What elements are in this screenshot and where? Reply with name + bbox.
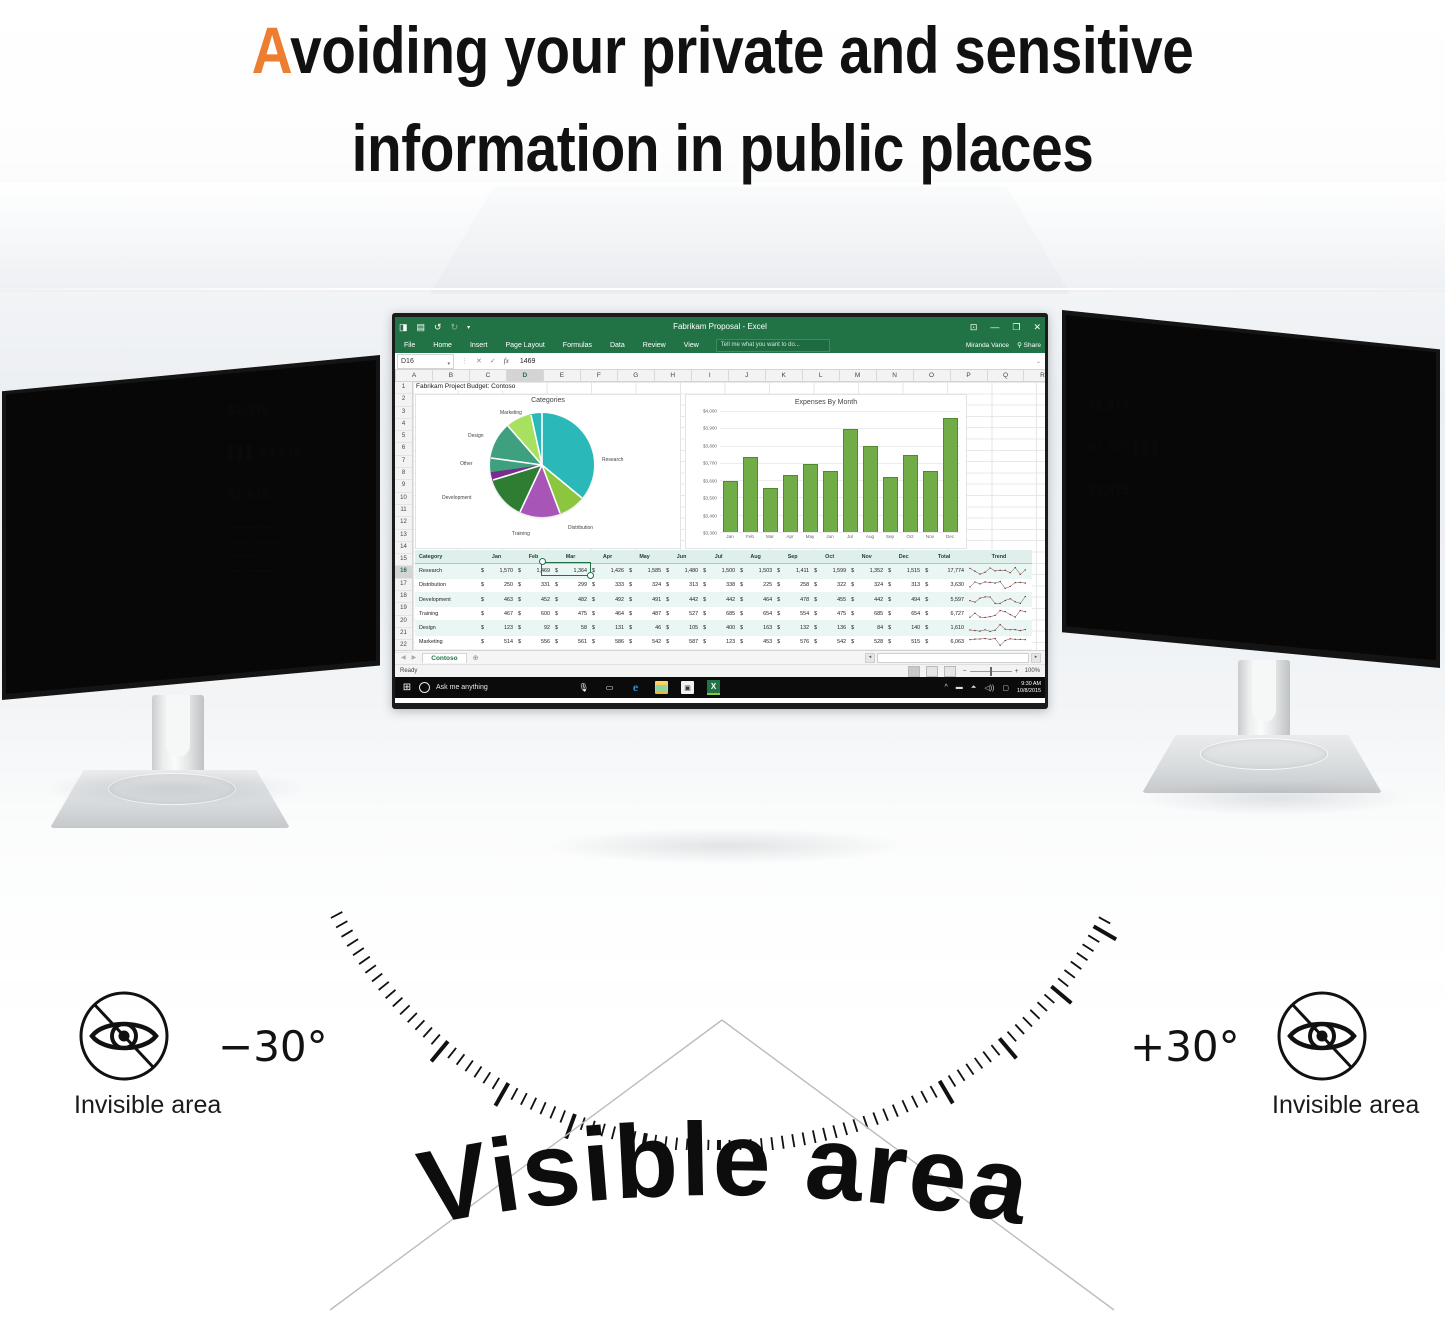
table-cell-value[interactable]: 1,585 (626, 564, 663, 578)
table-row[interactable]: Research1,5701,4691,3641,4261,5851,4801,… (415, 564, 1032, 578)
column-header-a[interactable]: A (396, 370, 433, 381)
table-cell-value[interactable]: 1,599 (811, 564, 848, 578)
clock-date: 10/8/2015 (1017, 688, 1041, 695)
taskbar-app-icons[interactable]: 🎙 ▭ e ▣ X (577, 680, 720, 695)
normal-view-icon[interactable] (908, 666, 920, 677)
bar-nov: Nov (923, 471, 938, 532)
table-cell-value[interactable]: 322 (811, 578, 848, 592)
table-cell-value[interactable]: 685 (700, 607, 737, 621)
table-cell-value[interactable]: 1,500 (700, 564, 737, 578)
protractor-tick (353, 948, 364, 955)
table-cell-value[interactable]: 654 (737, 607, 774, 621)
table-cell-value[interactable]: 600 (515, 607, 552, 621)
headline-accent-letter: A (252, 13, 290, 87)
table-cell-value[interactable]: 464 (737, 592, 774, 606)
protractor-tick (359, 957, 370, 965)
row-header-18[interactable]: 18 (395, 591, 412, 603)
table-cell-value[interactable]: 338 (700, 578, 737, 592)
table-col-nov[interactable]: Nov (848, 550, 885, 564)
table-cell-value[interactable]: 491 (626, 592, 663, 606)
table-col-apr[interactable]: Apr (589, 550, 626, 564)
row-header-11[interactable]: 11 (395, 505, 412, 517)
worksheet-grid[interactable]: Fabrikam Project Budget: Contoso Categor… (413, 382, 1045, 650)
bar-chart-ytick: $3,500 (703, 496, 717, 501)
sheet-nav-arrows[interactable]: ◀ ▶ (395, 654, 422, 661)
restore-icon[interactable]: ❐ (1012, 322, 1020, 333)
bar-chart-ytick: $4,000 (703, 409, 717, 414)
pie-chart-plot (490, 413, 594, 517)
headline-line-1-rest: voiding your private and sensitive (290, 13, 1193, 87)
table-cell-value[interactable]: 225 (737, 578, 774, 592)
bar-aug: Aug (863, 446, 878, 532)
table-cell-value[interactable]: 586 (589, 635, 626, 649)
formula-bar[interactable]: D16 ▾ ⋮ ✕ ✓ fx 1469 ⌄ (395, 353, 1045, 370)
visible-area-text: Visible area (0, 1120, 1445, 1320)
column-header-o[interactable]: O (914, 370, 951, 381)
bar-jan: Jan (723, 481, 738, 532)
table-cell-category[interactable]: Distribution (415, 578, 478, 592)
column-header-r[interactable]: R (1024, 370, 1045, 381)
table-col-trend[interactable]: Trend (966, 550, 1032, 564)
formula-input[interactable]: 1469 (516, 358, 1036, 365)
window-title: Fabrikam Proposal - Excel (395, 317, 1045, 337)
row-header-15[interactable]: 15 (395, 554, 412, 566)
table-cell-category[interactable]: Research (415, 564, 478, 578)
table-cell-value[interactable]: 1,570 (478, 564, 515, 578)
table-cell-value[interactable]: 58 (552, 621, 589, 635)
table-cell-value[interactable]: 258 (774, 578, 811, 592)
table-header-row: CategoryJanFebMarAprMayJunJulAugSepOctNo… (415, 550, 1032, 564)
bar-jul: Jul (843, 429, 858, 532)
table-cell-value[interactable]: 299 (552, 578, 589, 592)
table-row[interactable]: Marketing5145565615865425871234535765425… (415, 635, 1032, 649)
search-placeholder[interactable]: Ask me anything (436, 684, 488, 691)
desk-highlight-line (0, 288, 1445, 290)
table-cell-value[interactable]: 464 (589, 607, 626, 621)
table-cell-value[interactable]: 1,480 (663, 564, 700, 578)
table-cell-value[interactable]: 442 (700, 592, 737, 606)
account-name[interactable]: Miranda Vance (966, 342, 1009, 349)
table-cell-value[interactable]: 1,503 (737, 564, 774, 578)
table-cell-category[interactable]: Development (415, 592, 478, 606)
protractor-tick (1071, 962, 1082, 970)
table-cell-value[interactable]: 542 (811, 635, 848, 649)
table-row[interactable]: Design123925813146105400163132136841401,… (415, 621, 1032, 635)
pie-label-research: Research (602, 457, 623, 463)
bar-chart-gridline: $3,300 (720, 532, 960, 533)
enter-icon[interactable]: ✓ (490, 357, 496, 365)
tab-file[interactable]: File (395, 342, 424, 349)
protractor-tick (1099, 917, 1110, 923)
column-header-g[interactable]: G (618, 370, 655, 381)
bar-chart-xtick: Sep (884, 534, 897, 539)
table-cell-value[interactable]: 331 (515, 578, 552, 592)
right-invisible-label: Invisible area (1272, 1091, 1372, 1120)
table-cell-value[interactable]: 250 (478, 578, 515, 592)
tab-insert[interactable]: Insert (461, 342, 497, 349)
table-cell-value[interactable]: 576 (774, 635, 811, 649)
column-header-c[interactable]: C (470, 370, 507, 381)
system-tray[interactable]: ^ ▬ ⏶ ◁)) ▢ 9:30 AM 10/8/2015 (944, 681, 1041, 695)
row-header-7[interactable]: 7 (395, 456, 412, 468)
table-cell-value[interactable]: 514 (478, 635, 515, 649)
bar-chart-ytick: $3,600 (703, 478, 717, 483)
table-cell-value[interactable]: 123 (478, 621, 515, 635)
row-header-13[interactable]: 13 (395, 530, 412, 542)
file-explorer-icon[interactable] (655, 681, 668, 694)
table-cell-total[interactable]: 3,630 (922, 578, 966, 592)
pie-label-training: Training (512, 531, 530, 537)
tell-me-input[interactable]: Tell me what you want to do... (716, 339, 830, 352)
task-view-icon[interactable]: ▭ (603, 681, 616, 694)
column-header-p[interactable]: P (951, 370, 988, 381)
row-header-3[interactable]: 3 (395, 407, 412, 419)
bar-chart-ytick: $3,900 (703, 426, 717, 431)
table-cell-value[interactable]: 487 (626, 607, 663, 621)
table-cell-value[interactable]: 324 (848, 578, 885, 592)
ribbon-tab-bar[interactable]: File Home Insert Page Layout Formulas Da… (395, 337, 1045, 353)
row-header-5[interactable]: 5 (395, 431, 412, 443)
table-cell-value[interactable]: 1,515 (885, 564, 922, 578)
zoom-out-icon[interactable]: − (962, 668, 966, 675)
table-cell-value[interactable]: 442 (663, 592, 700, 606)
insert-function-icon[interactable]: fx (504, 357, 509, 365)
column-header-n[interactable]: N (877, 370, 914, 381)
table-cell-value[interactable]: 400 (700, 621, 737, 635)
table-cell-value[interactable]: 1,411 (774, 564, 811, 578)
table-cell-value[interactable]: 455 (811, 592, 848, 606)
scroll-right-icon[interactable]: ▸ (1031, 653, 1041, 663)
table-cell-trend[interactable] (966, 607, 1032, 621)
table-cell-trend[interactable] (966, 635, 1032, 649)
chevron-down-icon[interactable]: ▾ (447, 358, 450, 371)
status-bar: Ready − + 100% (395, 664, 1045, 677)
table-cell-value[interactable]: 528 (848, 635, 885, 649)
bar-mar: Mar (763, 488, 778, 532)
network-icon[interactable]: ⏶ (971, 684, 977, 692)
left-invisible-indicator: Invisible area (74, 990, 174, 1120)
table-cell-value[interactable]: 84 (848, 621, 885, 635)
table-cell-value[interactable]: 478 (774, 592, 811, 606)
minimize-icon[interactable]: — (990, 322, 999, 332)
bar-sep: Sep (883, 477, 898, 532)
table-col-aug[interactable]: Aug (737, 550, 774, 564)
previous-sheet-icon[interactable]: ◀ (401, 654, 406, 661)
table-cell-value[interactable]: 452 (515, 592, 552, 606)
table-cell-value[interactable]: 467 (478, 607, 515, 621)
table-col-may[interactable]: May (626, 550, 663, 564)
protractor-tick (365, 965, 376, 973)
edge-icon[interactable]: e (629, 681, 642, 694)
expand-formula-bar-icon[interactable]: ⌄ (1036, 358, 1045, 365)
bar-chart-ytick: $3,400 (703, 513, 717, 518)
table-cell-value[interactable]: 685 (848, 607, 885, 621)
table-cell-value[interactable]: 1,426 (589, 564, 626, 578)
status-text: Ready (395, 668, 417, 674)
table-cell-value[interactable]: 492 (589, 592, 626, 606)
window-controls[interactable]: ⊡ — ❐ ✕ (970, 317, 1041, 337)
column-header-b[interactable]: B (433, 370, 470, 381)
table-col-sep[interactable]: Sep (774, 550, 811, 564)
table-cell-value[interactable]: 556 (515, 635, 552, 649)
table-cell-value[interactable]: 527 (663, 607, 700, 621)
table-cell-value[interactable]: 542 (626, 635, 663, 649)
table-cell-value[interactable]: 313 (885, 578, 922, 592)
table-cell-value[interactable]: 515 (885, 635, 922, 649)
left-invisible-label: Invisible area (74, 1091, 174, 1120)
column-header-row[interactable]: ABCDEFGHIJKLMNOPQR (395, 370, 1045, 382)
bar-chart-ytick: $3,800 (703, 443, 717, 448)
table-cell-trend[interactable] (966, 564, 1032, 578)
table-col-total[interactable]: Total (922, 550, 966, 564)
table-cell-value[interactable]: 475 (552, 607, 589, 621)
microphone-icon[interactable]: 🎙 (577, 681, 590, 694)
formula-bar-buttons[interactable]: ⋮ ✕ ✓ fx (454, 357, 516, 365)
bar-chart-series: JanFebMarAprMayJunJulAugSepOctNovDec (720, 411, 960, 532)
right-monitor-base-ring (1200, 738, 1328, 770)
zoom-slider[interactable]: − + (962, 668, 1018, 675)
table-cell-total[interactable]: 1,610 (922, 621, 966, 635)
sheet-tab-contoso[interactable]: Contoso (422, 653, 466, 663)
table-row[interactable]: Distribution2503312993333243133382252583… (415, 578, 1032, 592)
table-cell-value[interactable]: 587 (663, 635, 700, 649)
table-cell-category[interactable]: Training (415, 607, 478, 621)
pie-label-other: Other (460, 461, 473, 467)
table-cell-trend[interactable] (966, 621, 1032, 635)
bar-jun: Jun (823, 471, 838, 532)
row-header-19[interactable]: 19 (395, 603, 412, 615)
pie-label-distribution: Distribution (568, 525, 593, 531)
row-header-22[interactable]: 22 (395, 640, 412, 652)
pie-label-marketing: Marketing (500, 410, 522, 416)
row-header-17[interactable]: 17 (395, 579, 412, 591)
table-col-jul[interactable]: Jul (700, 550, 737, 564)
tab-review[interactable]: Review (634, 342, 675, 349)
table-cell-total[interactable]: 17,774 (922, 564, 966, 578)
status-bar-right[interactable]: − + 100% (908, 666, 1045, 677)
right-invisible-indicator: Invisible area (1272, 990, 1372, 1120)
worksheet-area[interactable]: 12345678910111213141516171819202122 Fabr… (395, 382, 1045, 650)
sparkline (968, 623, 1028, 633)
table-cell-value[interactable]: 131 (589, 621, 626, 635)
row-header-column[interactable]: 12345678910111213141516171819202122 (395, 382, 413, 650)
select-all-corner[interactable] (395, 370, 396, 381)
table-cell-value[interactable]: 313 (663, 578, 700, 592)
protractor-tick (1077, 953, 1088, 960)
pie-slice-separators (490, 413, 594, 517)
close-icon[interactable]: ✕ (1033, 322, 1041, 333)
table-cell-value[interactable]: 324 (626, 578, 663, 592)
cortana-icon[interactable] (419, 682, 430, 693)
bar-chart-xtick: Feb (744, 534, 757, 539)
tab-data[interactable]: Data (601, 342, 634, 349)
table-cell-total[interactable]: 6,063 (922, 635, 966, 649)
cancel-icon[interactable]: ✕ (476, 357, 482, 365)
protractor-tick (342, 930, 353, 937)
table-cell-value[interactable]: 482 (552, 592, 589, 606)
table-cell-value[interactable]: 654 (885, 607, 922, 621)
bar-chart-xtick: Aug (864, 534, 877, 539)
show-hidden-icons-icon[interactable]: ^ (944, 684, 947, 691)
table-col-jun[interactable]: Jun (663, 550, 700, 564)
tab-home[interactable]: Home (424, 342, 461, 349)
table-cell-total[interactable]: 5,597 (922, 592, 966, 606)
table-cell-value[interactable]: 494 (885, 592, 922, 606)
page-break-view-icon[interactable] (944, 666, 956, 677)
system-clock[interactable]: 9:30 AM 10/8/2015 (1017, 681, 1041, 695)
row-header-12[interactable]: 12 (395, 517, 412, 529)
store-icon[interactable]: ▣ (681, 681, 694, 694)
row-header-14[interactable]: 14 (395, 542, 412, 554)
tab-view[interactable]: View (675, 342, 708, 349)
row-header-16[interactable]: 16 (395, 566, 412, 578)
share-button[interactable]: ⚲ Share (1017, 341, 1041, 349)
sheet-tab-bar[interactable]: ◀ ▶ Contoso ⊕ ◂ ▸ (395, 650, 1045, 664)
scroll-left-icon[interactable]: ◂ (865, 653, 875, 663)
column-header-k[interactable]: K (766, 370, 803, 381)
name-box-value: D16 (401, 358, 414, 365)
action-center-icon[interactable]: ▢ (1002, 684, 1009, 692)
column-header-d[interactable]: D (507, 370, 544, 381)
excel-icon[interactable]: X (707, 680, 720, 695)
table-cell-value[interactable]: 92 (515, 621, 552, 635)
tab-page-layout[interactable]: Page Layout (496, 342, 553, 349)
row-header-6[interactable]: 6 (395, 443, 412, 455)
bar-chart-xtick: Jan (724, 534, 737, 539)
bar-chart-xtick: Nov (924, 534, 937, 539)
pie-label-development: Development (442, 495, 471, 501)
table-col-dec[interactable]: Dec (885, 550, 922, 564)
table-cell-value[interactable]: 105 (663, 621, 700, 635)
ribbon-display-options-icon[interactable]: ⊡ (970, 322, 978, 333)
name-box[interactable]: D16 ▾ (397, 354, 454, 369)
desk-backdrop-trapezoid (430, 186, 1070, 294)
column-header-f[interactable]: F (581, 370, 618, 381)
selection-handle-bottom[interactable] (587, 572, 594, 579)
headline-line-2: information in public places (101, 100, 1344, 198)
sparkline (968, 566, 1028, 576)
tab-formulas[interactable]: Formulas (554, 342, 601, 349)
protractor-tick (1088, 935, 1099, 942)
windows-taskbar[interactable]: ⊞ Ask me anything 🎙 ▭ e ▣ X ^ ▬ ⏶ ◁)) ▢ (395, 677, 1045, 698)
page-layout-view-icon[interactable] (926, 666, 938, 677)
eye-crossed-out-icon (1276, 990, 1368, 1082)
table-cell-value[interactable]: 561 (552, 635, 589, 649)
bar-chart-title: Expenses By Month (686, 395, 966, 406)
table-cell-trend[interactable] (966, 592, 1032, 606)
cell-a1-title[interactable]: Fabrikam Project Budget: Contoso (416, 383, 519, 390)
zoom-level-label[interactable]: 100% (1025, 668, 1040, 674)
table-cell-total[interactable]: 6,727 (922, 607, 966, 621)
table-cell-value[interactable]: 1,352 (848, 564, 885, 578)
insert-function-menu-icon[interactable]: ⋮ (461, 357, 468, 365)
table-cell-category[interactable]: Marketing (415, 635, 478, 649)
table-cell-value[interactable]: 140 (885, 621, 922, 635)
row-header-2[interactable]: 2 (395, 394, 412, 406)
table-cell-value[interactable]: 463 (478, 592, 515, 606)
row-header-8[interactable]: 8 (395, 468, 412, 480)
selection-handle-top[interactable] (539, 558, 546, 565)
account-area[interactable]: Miranda Vance ⚲ Share (966, 337, 1041, 353)
cortana-search-box[interactable]: Ask me anything (419, 682, 488, 693)
bar-chart-object[interactable]: Expenses By Month $3,300$3,400$3,500$3,6… (685, 394, 967, 549)
bar-chart-ytick: $3,700 (703, 461, 717, 466)
sparkline (968, 637, 1028, 647)
table-col-jan[interactable]: Jan (478, 550, 515, 564)
row-header-4[interactable]: 4 (395, 419, 412, 431)
horizontal-scrollbar[interactable]: ◂ ▸ (865, 653, 1045, 663)
active-cell-selection[interactable] (541, 562, 591, 576)
column-header-m[interactable]: M (840, 370, 877, 381)
column-header-l[interactable]: L (803, 370, 840, 381)
row-header-1[interactable]: 1 (395, 382, 412, 394)
column-header-q[interactable]: Q (988, 370, 1025, 381)
zoom-track[interactable] (970, 671, 1012, 672)
bar-chart-xtick: Jul (844, 534, 857, 539)
table-cell-value[interactable]: 554 (774, 607, 811, 621)
bar-chart-xtick: Oct (904, 534, 917, 539)
table-cell-trend[interactable] (966, 578, 1032, 592)
bar-dec: Dec (943, 418, 958, 532)
budget-data-table[interactable]: CategoryJanFebMarAprMayJunJulAugSepOctNo… (415, 550, 1032, 650)
table-col-oct[interactable]: Oct (811, 550, 848, 564)
battery-icon[interactable]: ▬ (956, 684, 963, 691)
next-sheet-icon[interactable]: ▶ (412, 654, 417, 661)
column-header-e[interactable]: E (544, 370, 581, 381)
table-cell-value[interactable]: 163 (737, 621, 774, 635)
column-header-i[interactable]: I (692, 370, 729, 381)
column-header-j[interactable]: J (729, 370, 766, 381)
bar-oct: Oct (903, 455, 918, 532)
volume-icon[interactable]: ◁)) (984, 684, 994, 692)
eye-crossed-out-icon (78, 990, 170, 1082)
table-cell-value[interactable]: 136 (811, 621, 848, 635)
table-col-category[interactable]: Category (415, 550, 478, 564)
table-row[interactable]: Development46345248249249144244246447845… (415, 592, 1032, 606)
sparkline (968, 580, 1028, 590)
table-cell-value[interactable]: 453 (737, 635, 774, 649)
row-header-21[interactable]: 21 (395, 628, 412, 640)
row-header-9[interactable]: 9 (395, 480, 412, 492)
table-row[interactable]: Training46760047546448752768565455447568… (415, 607, 1032, 621)
table-cell-value[interactable]: 132 (774, 621, 811, 635)
zoom-knob[interactable] (990, 667, 992, 676)
bar-feb: Feb (743, 457, 758, 532)
start-button-icon[interactable]: ⊞ (395, 682, 419, 693)
new-sheet-icon[interactable]: ⊕ (473, 654, 479, 662)
table-cell-value[interactable]: 333 (589, 578, 626, 592)
column-header-h[interactable]: H (655, 370, 692, 381)
headline-line-1: Avoiding your private and sensitive (101, 2, 1344, 100)
bar-chart-xtick: Apr (784, 534, 797, 539)
bar-chart-xtick: Dec (944, 534, 957, 539)
table-cell-value[interactable]: 442 (848, 592, 885, 606)
zoom-in-icon[interactable]: + (1015, 668, 1019, 675)
protractor-tick (336, 921, 347, 927)
table-cell-value[interactable]: 46 (626, 621, 663, 635)
excel-title-bar: ◨ ▤ ↺ ↻ ▾ Fabrikam Proposal - Excel ⊡ — … (395, 317, 1045, 337)
pie-chart-object[interactable]: Categories (415, 394, 681, 549)
table-cell-value[interactable]: 475 (811, 607, 848, 621)
bar-chart-plot: $3,300$3,400$3,500$3,600$3,700$3,800$3,9… (720, 411, 960, 532)
table-cell-value[interactable]: 123 (700, 635, 737, 649)
table-cell-category[interactable]: Design (415, 621, 478, 635)
scrollbar-track[interactable] (877, 653, 1029, 663)
bar-apr: Apr (783, 475, 798, 532)
right-angle-label: +30° (1130, 1022, 1240, 1071)
row-header-20[interactable]: 20 (395, 616, 412, 628)
row-header-10[interactable]: 10 (395, 493, 412, 505)
